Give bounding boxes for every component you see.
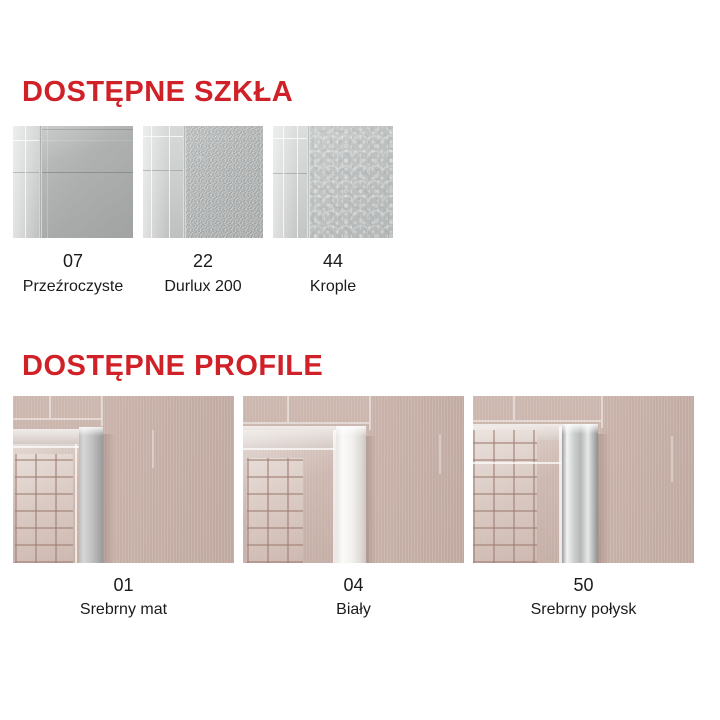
- profile-name-50: Srebrny połysk: [531, 602, 637, 618]
- profile-swatch-50[interactable]: 50 Srebrny połysk: [473, 396, 694, 618]
- profile-swatch-row: 01 Srebrny mat: [13, 396, 694, 618]
- glass-code-22: 22: [193, 252, 213, 270]
- glass-section-title: DOSTĘPNE SZKŁA: [22, 78, 293, 107]
- clear-glass-sample: [13, 126, 133, 238]
- profile-name-04: Biały: [336, 602, 371, 618]
- profile-swatch-04[interactable]: 04 Biały: [243, 396, 464, 618]
- glass-swatch-07[interactable]: 07 Przeźroczyste: [13, 126, 133, 295]
- profile-section-title: DOSTĘPNE PROFILE: [22, 352, 323, 381]
- glass-swatch-44[interactable]: 44 Krople: [273, 126, 393, 295]
- durlux-glass-sample: [143, 126, 263, 238]
- glass-name-22: Durlux 200: [164, 279, 241, 295]
- silver-matt-profile-sample: [13, 396, 234, 563]
- profile-swatch-01[interactable]: 01 Srebrny mat: [13, 396, 234, 618]
- glass-name-44: Krople: [310, 279, 356, 295]
- silver-gloss-profile-sample: [473, 396, 694, 563]
- profile-code-50: 50: [573, 576, 593, 594]
- glass-code-44: 44: [323, 252, 343, 270]
- profile-code-01: 01: [113, 576, 133, 594]
- glass-swatch-22[interactable]: 22 Durlux 200: [143, 126, 263, 295]
- profile-name-01: Srebrny mat: [80, 602, 167, 618]
- catalog-page: DOSTĘPNE SZKŁA 07: [0, 0, 720, 720]
- glass-code-07: 07: [63, 252, 83, 270]
- krople-glass-sample: [273, 126, 393, 238]
- glass-swatch-row: 07 Przeźroczyste 22 Durlux 200: [13, 126, 393, 295]
- profile-code-04: 04: [343, 576, 363, 594]
- glass-name-07: Przeźroczyste: [23, 279, 123, 295]
- white-profile-sample: [243, 396, 464, 563]
